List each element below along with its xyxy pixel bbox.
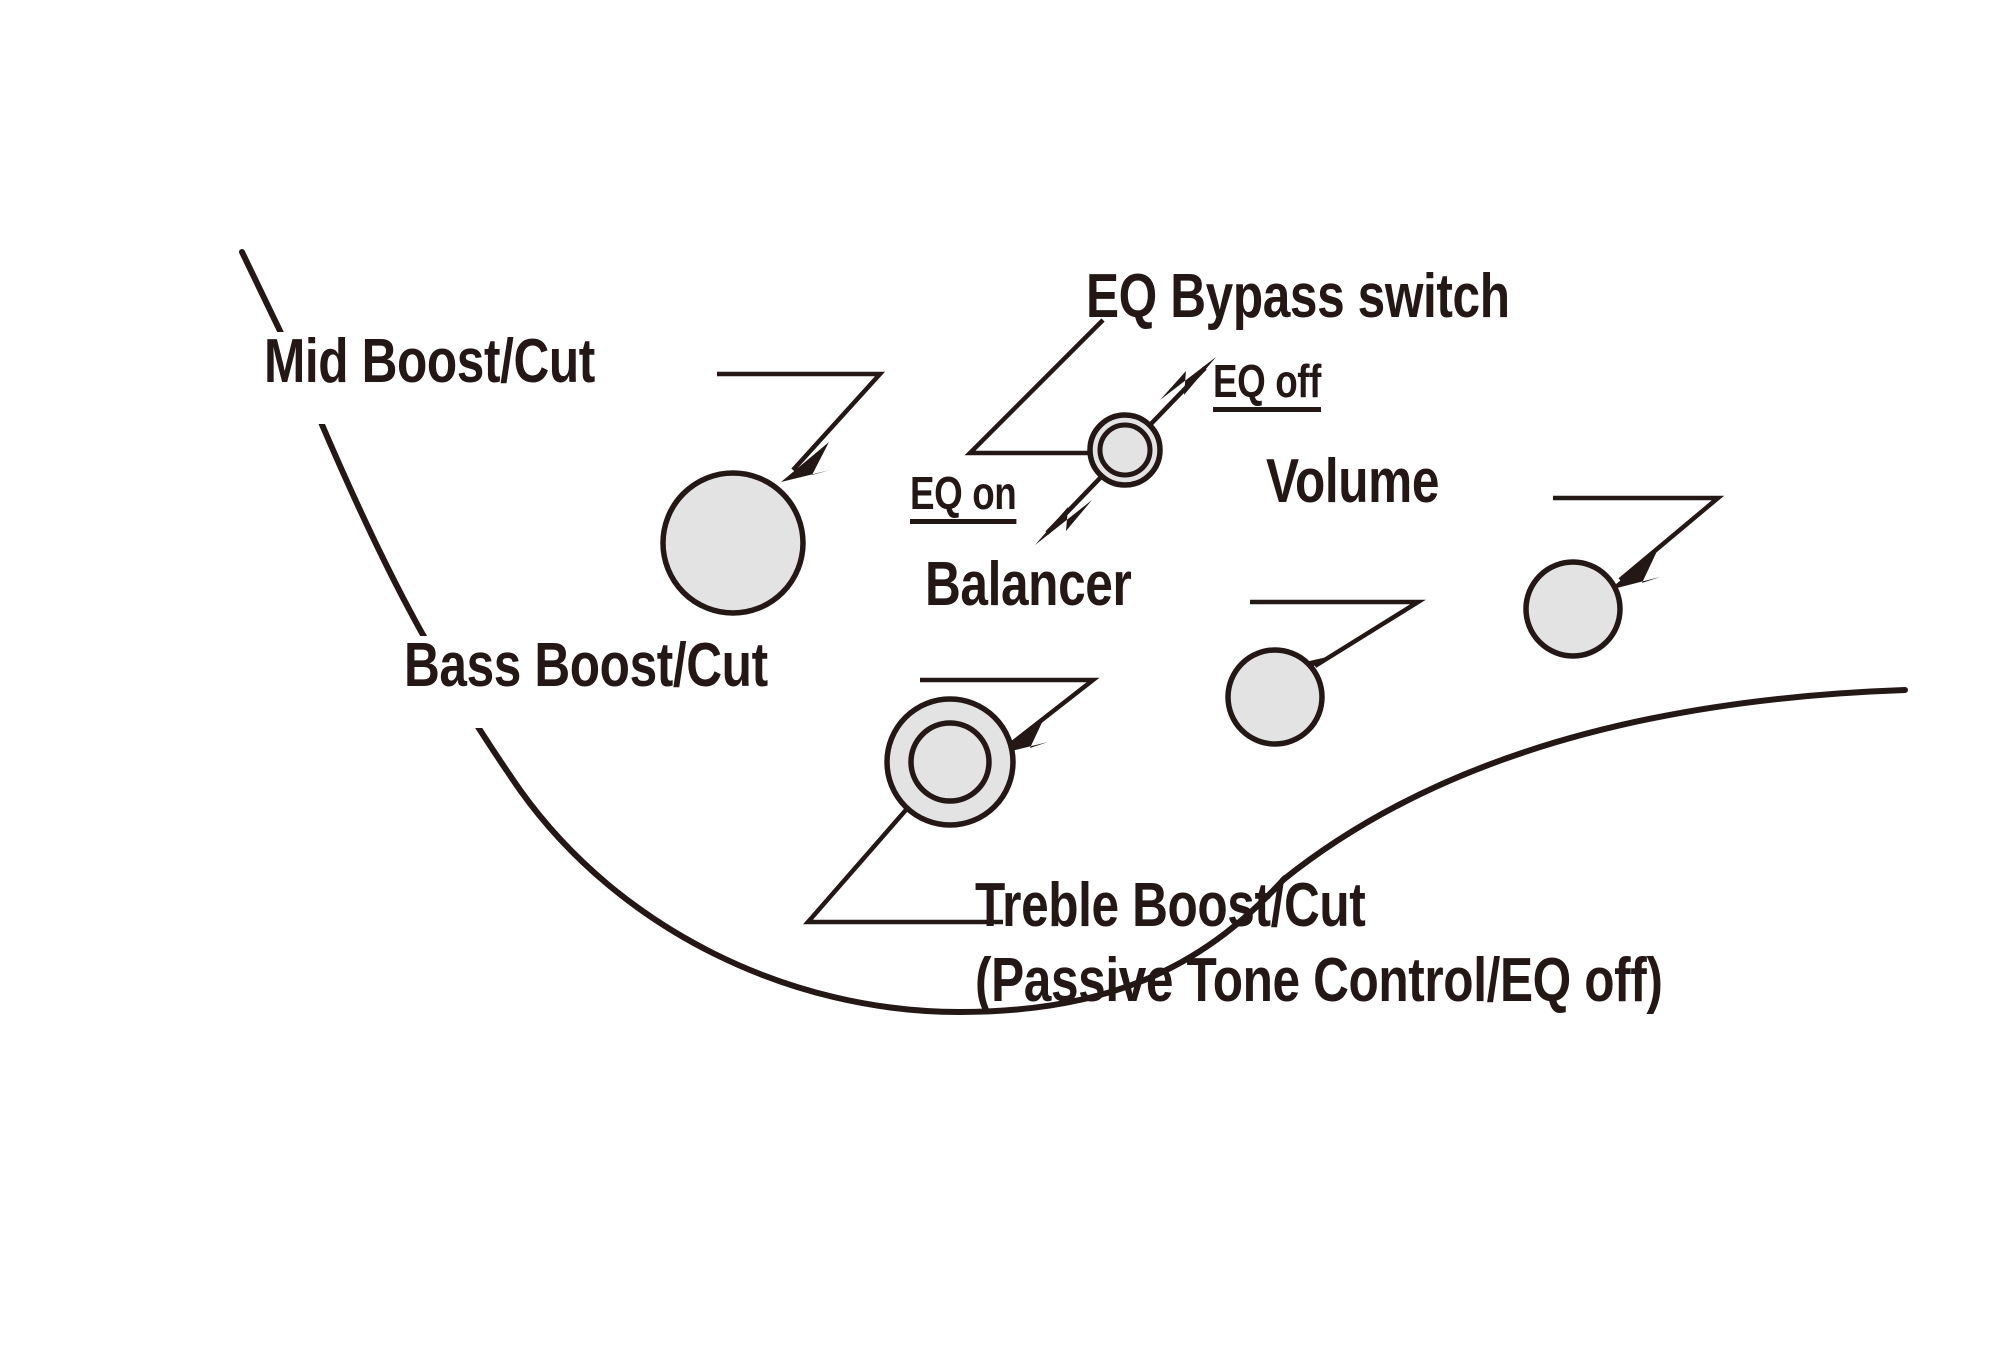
balancer-knob[interactable] <box>1228 650 1322 744</box>
label-mid-boost-cut: Mid Boost/Cut <box>264 330 595 393</box>
arrowhead-eq-on <box>1035 500 1092 545</box>
body-outline-upper-segment <box>242 252 281 333</box>
arrowhead-mid-boost-cut <box>781 442 830 482</box>
arrowhead-volume <box>1609 549 1660 590</box>
eq-bypass-switch[interactable] <box>1090 415 1160 485</box>
leader-eq-bypass-switch <box>970 320 1103 453</box>
label-eq-bypass-switch: EQ Bypass switch <box>1086 265 1510 328</box>
treble-boost-cut-knob[interactable] <box>911 723 989 801</box>
label-eq-on: EQ on <box>910 470 1016 524</box>
diagram-canvas: Mid Boost/Cut Bass Boost/Cut EQ Bypass s… <box>0 0 2000 1350</box>
mid-boost-cut-knob[interactable] <box>663 473 803 613</box>
label-volume: Volume <box>1266 450 1439 513</box>
label-balancer: Balancer <box>925 553 1131 616</box>
body-outline-right-waist <box>1283 690 1905 880</box>
volume-knob[interactable] <box>1526 562 1620 656</box>
guitar-control-diagram <box>0 0 2000 1350</box>
label-treble-boost-cut: Treble Boost/Cut <box>975 874 1365 937</box>
leader-mid-boost-cut <box>717 374 880 470</box>
label-eq-off: EQ off <box>1213 358 1321 412</box>
label-treble-subtitle: (Passive Tone Control/EQ off) <box>975 948 1662 1014</box>
eq-bypass-switch-inner-ring <box>1100 425 1150 475</box>
arrowhead-eq-off <box>1160 357 1216 400</box>
label-bass-boost-cut: Bass Boost/Cut <box>404 634 768 697</box>
